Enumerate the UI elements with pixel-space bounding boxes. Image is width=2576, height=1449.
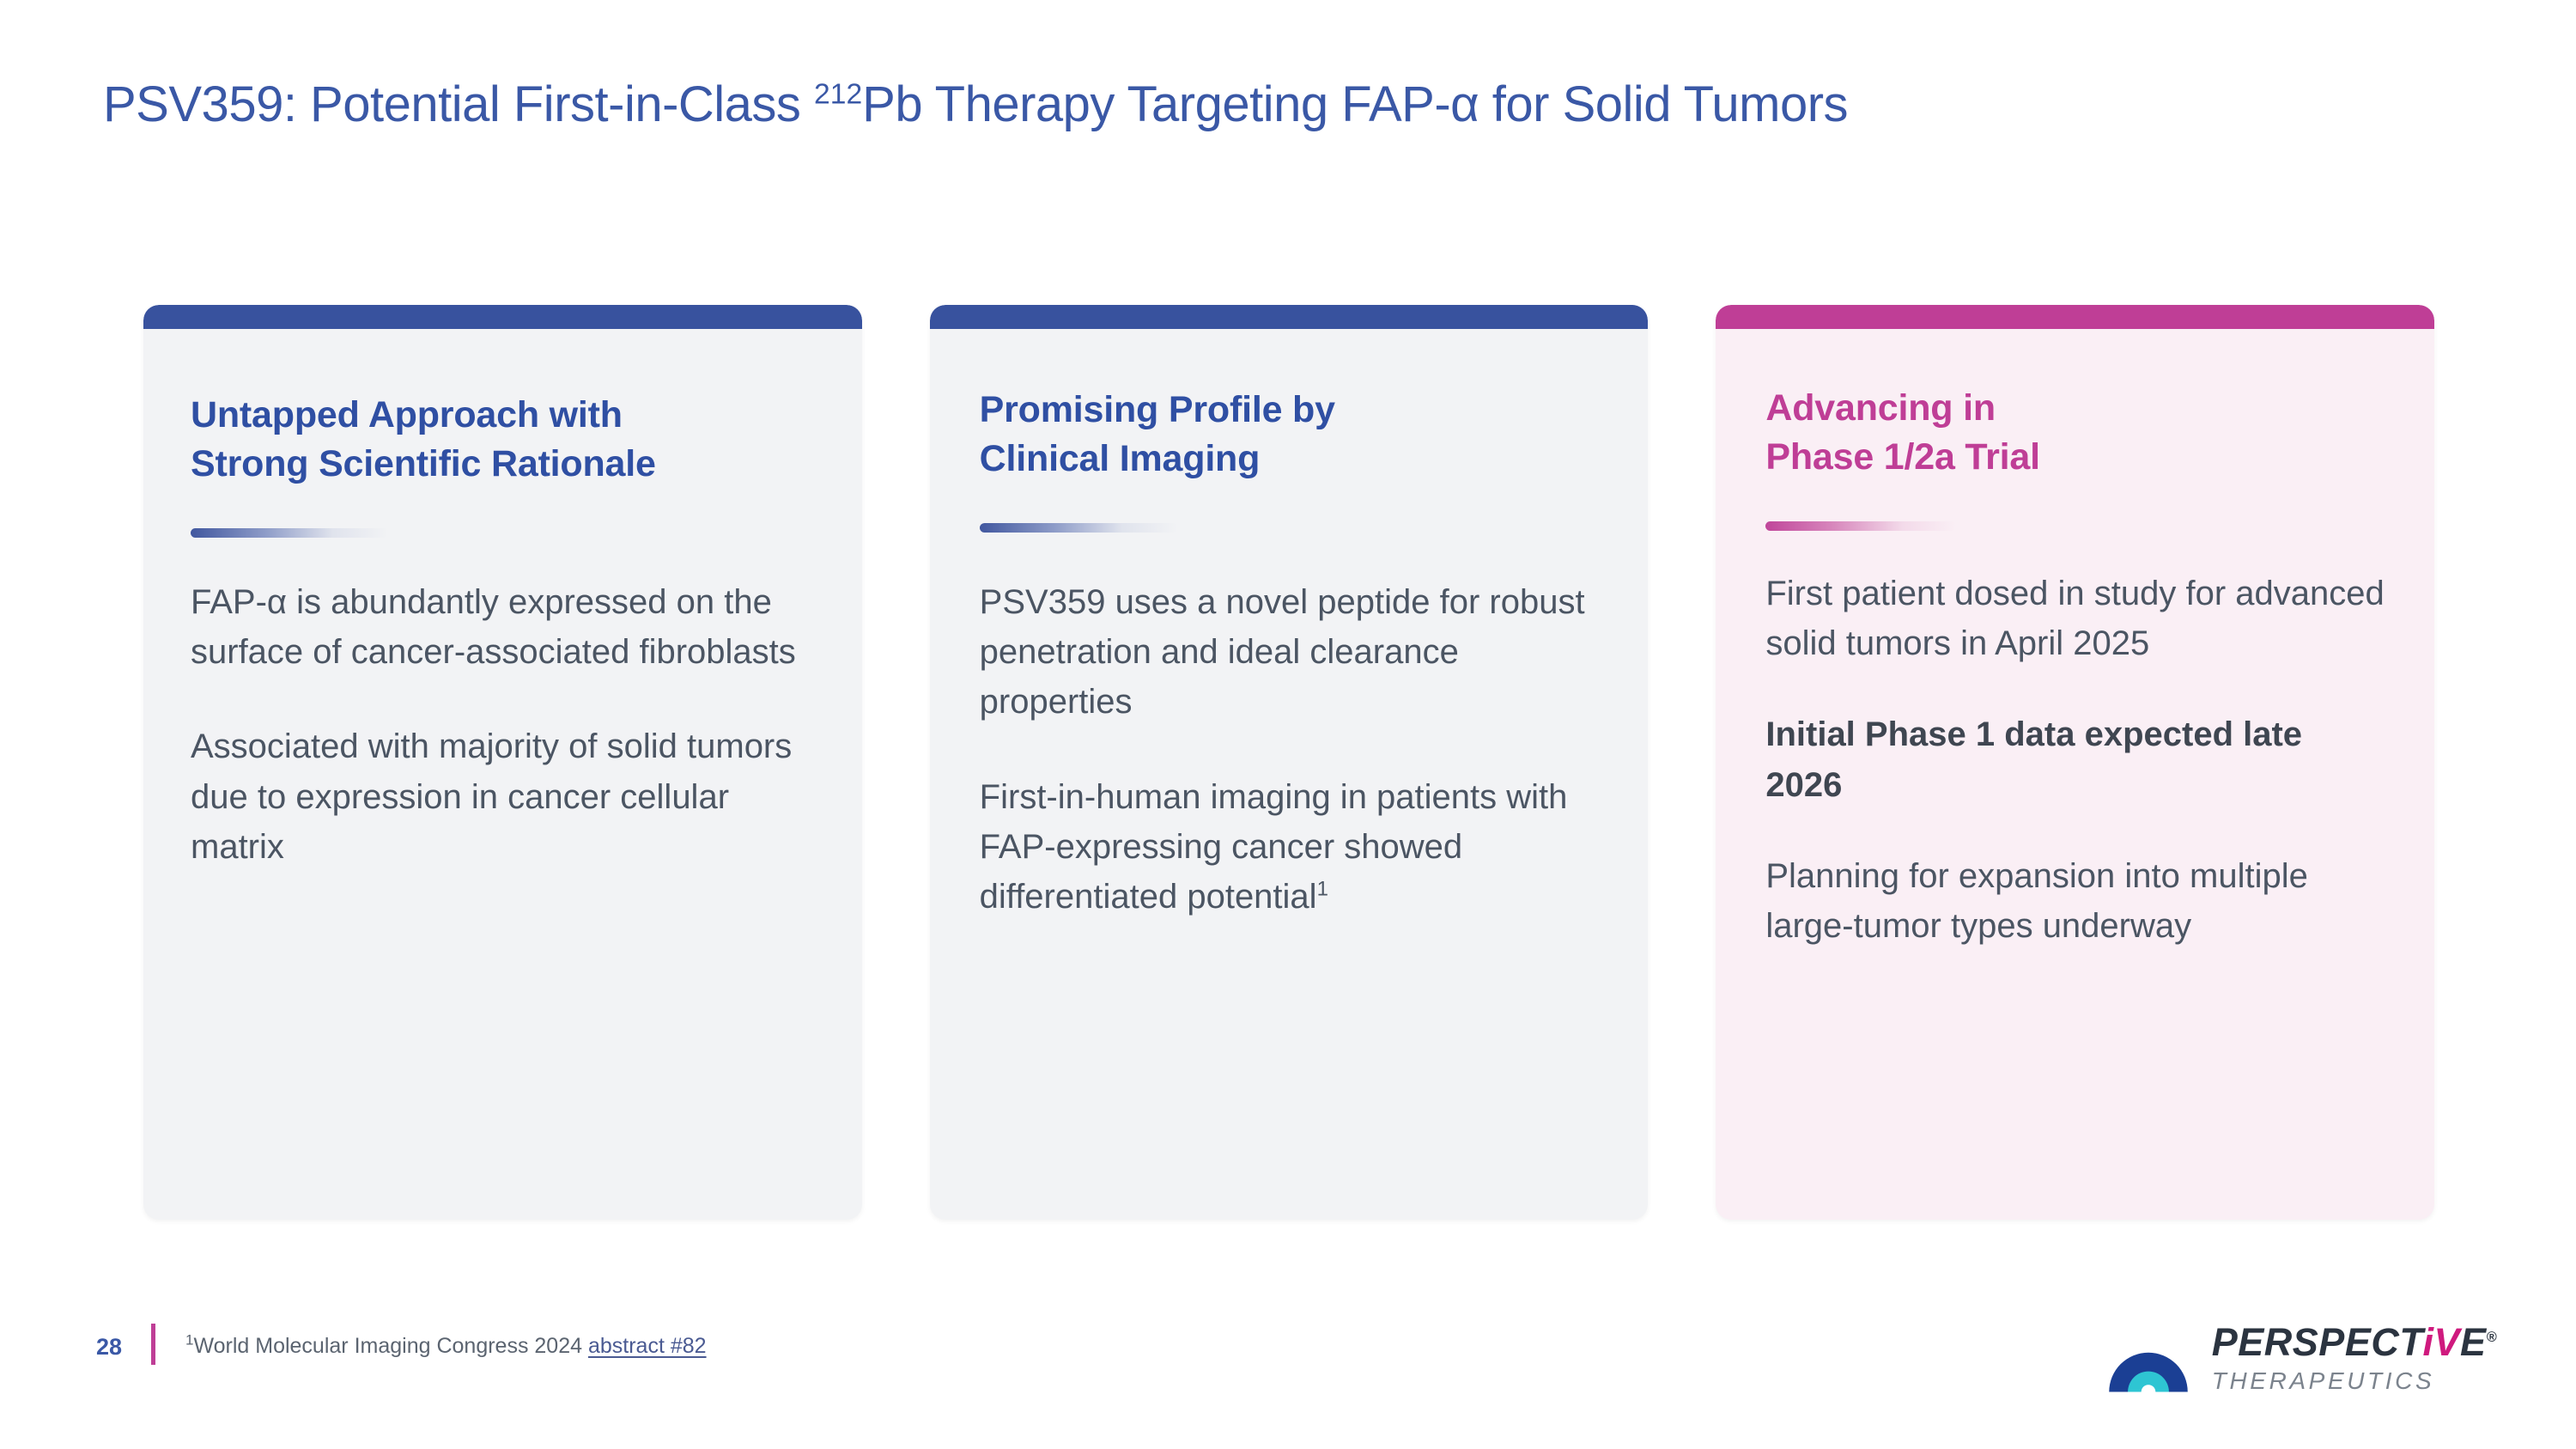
card-divider — [1765, 521, 1956, 531]
page-title-prefix: PSV359: Potential First-in-Class — [103, 76, 814, 132]
logo-subtitle: THERAPEUTICS — [2212, 1369, 2497, 1393]
card-heading-line-1: Untapped Approach with — [191, 394, 623, 435]
logo-word-part2: E — [2460, 1320, 2487, 1364]
card-paragraphs: FAP-α is abundantly expressed on the sur… — [191, 577, 812, 873]
slide: PSV359: Potential First-in-Class 212Pb T… — [0, 0, 2576, 1449]
card-heading-line-2: Phase 1/2a Trial — [1765, 436, 2040, 478]
page-title-suffix: Pb Therapy Targeting FAP-α for Solid Tum… — [862, 76, 1848, 132]
card-accent-bar — [930, 305, 1649, 329]
footnote: 1World Molecular Imaging Congress 2024 a… — [185, 1334, 707, 1359]
card-heading: Untapped Approach with Strong Scientific… — [191, 391, 812, 489]
page-title-superscript: 212 — [814, 79, 862, 111]
card-heading: Advancing in Phase 1/2a Trial — [1765, 384, 2385, 482]
card-accent-bar — [143, 305, 862, 329]
logo-word-part1: PERSPECT — [2212, 1320, 2423, 1364]
card-paragraphs: PSV359 uses a novel peptide for robust p… — [980, 577, 1599, 922]
card-paragraph: Associated with majority of solid tumors… — [191, 721, 812, 872]
card-paragraph-highlight: Initial Phase 1 data expected late 2026 — [1765, 709, 2385, 810]
card-heading: Promising Profile by Clinical Imaging — [980, 386, 1599, 484]
cards-row: Untapped Approach with Strong Scientific… — [143, 305, 2434, 1220]
card-promising-profile[interactable]: Promising Profile by Clinical Imaging PS… — [930, 305, 1649, 1220]
card-heading-line-1: Promising Profile by — [980, 389, 1335, 430]
company-logo: PERSPECTiVE® THERAPEUTICS — [2104, 1313, 2497, 1403]
footer-divider — [151, 1324, 155, 1365]
card-divider — [191, 528, 388, 538]
card-untapped-approach[interactable]: Untapped Approach with Strong Scientific… — [143, 305, 862, 1220]
page-title: PSV359: Potential First-in-Class 212Pb T… — [103, 76, 1848, 133]
footnote-text: World Molecular Imaging Congress 2024 — [193, 1334, 588, 1358]
card-paragraph: First patient dosed in study for advance… — [1765, 569, 2385, 669]
logo-wordmark: PERSPECTiVE® THERAPEUTICS — [2212, 1323, 2497, 1393]
card-body: Advancing in Phase 1/2a Trial First pati… — [1716, 329, 2434, 1220]
footer: 28 1World Molecular Imaging Congress 202… — [0, 1294, 2576, 1449]
logo-word-accent: iV — [2423, 1320, 2461, 1364]
card-paragraph: Planning for expansion into multiple lar… — [1765, 851, 2385, 952]
card-paragraph: FAP-α is abundantly expressed on the sur… — [191, 577, 812, 678]
card-advancing-phase-1-2a[interactable]: Advancing in Phase 1/2a Trial First pati… — [1716, 305, 2434, 1220]
card-body: Promising Profile by Clinical Imaging PS… — [930, 329, 1649, 1220]
footnote-marker: 1 — [1317, 878, 1328, 901]
card-paragraph: PSV359 uses a novel peptide for robust p… — [980, 577, 1599, 728]
card-body: Untapped Approach with Strong Scientific… — [143, 329, 862, 1220]
card-heading-line-1: Advancing in — [1765, 387, 1996, 429]
card-heading-line-2: Clinical Imaging — [980, 438, 1261, 479]
footnote-link-abstract[interactable]: abstract #82 — [588, 1334, 707, 1358]
card-divider — [980, 523, 1177, 533]
card-heading-line-2: Strong Scientific Rationale — [191, 443, 656, 484]
registered-trademark-icon: ® — [2487, 1330, 2497, 1345]
card-paragraphs: First patient dosed in study for advance… — [1765, 569, 2385, 993]
perspective-arch-icon — [2104, 1313, 2193, 1403]
logo-word: PERSPECTiVE® — [2212, 1323, 2497, 1361]
card-paragraph: First-in-human imaging in patients with … — [980, 772, 1599, 922]
page-number: 28 — [96, 1334, 122, 1361]
card-accent-bar — [1716, 305, 2434, 329]
card-paragraph-text: First-in-human imaging in patients with … — [980, 778, 1568, 916]
